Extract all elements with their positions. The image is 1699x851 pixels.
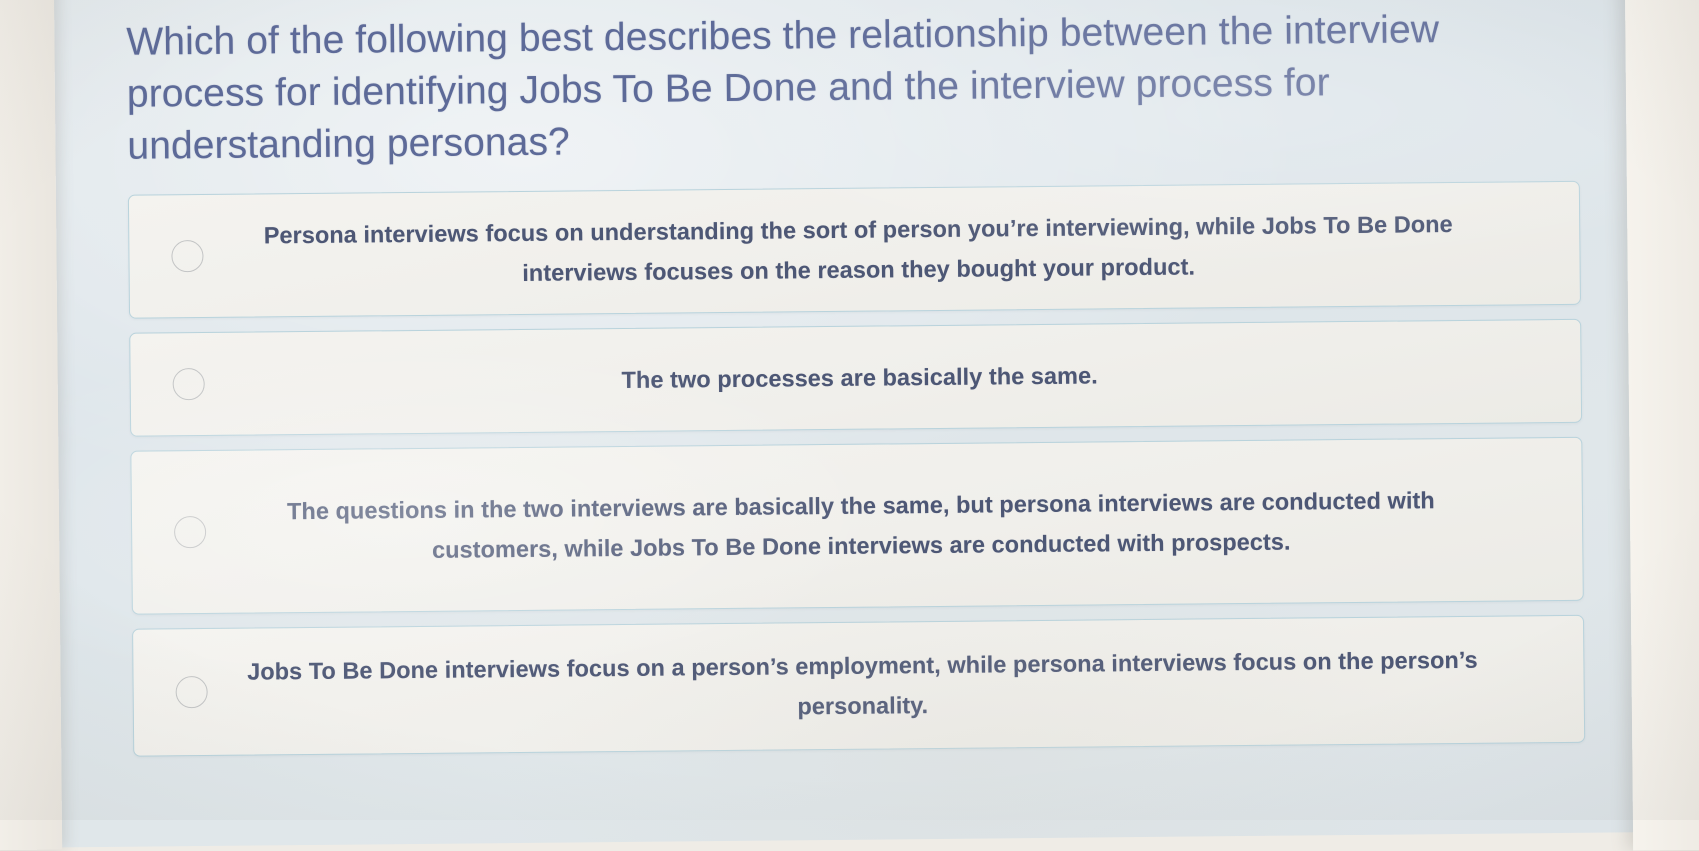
right-paper-edge: [1625, 0, 1699, 851]
radio-button-icon-a[interactable]: [171, 240, 203, 272]
answer-option-b-label: The two processes are basically the same…: [223, 351, 1541, 404]
answer-option-a-label: Persona interviews focus on understandin…: [221, 203, 1540, 296]
answer-options-list: Persona interviews focus on understandin…: [128, 181, 1585, 757]
radio-button-icon-b[interactable]: [173, 368, 205, 400]
left-paper-edge: [0, 0, 62, 850]
answer-option-d[interactable]: Jobs To Be Done interviews focus on a pe…: [132, 615, 1585, 757]
answer-option-b[interactable]: The two processes are basically the same…: [129, 319, 1582, 437]
answer-option-a[interactable]: Persona interviews focus on understandin…: [128, 181, 1581, 319]
quiz-screen: Which of the following best describes th…: [42, 0, 1650, 848]
question-text: Which of the following best describes th…: [126, 4, 1447, 173]
answer-option-d-label: Jobs To Be Done interviews focus on a pe…: [225, 639, 1544, 732]
radio-button-icon-c[interactable]: [174, 516, 206, 548]
answer-option-c[interactable]: The questions in the two interviews are …: [130, 437, 1584, 615]
quiz-content: Which of the following best describes th…: [42, 0, 1649, 758]
answer-option-c-label: The questions in the two interviews are …: [224, 479, 1543, 572]
radio-button-icon-d[interactable]: [175, 676, 207, 708]
